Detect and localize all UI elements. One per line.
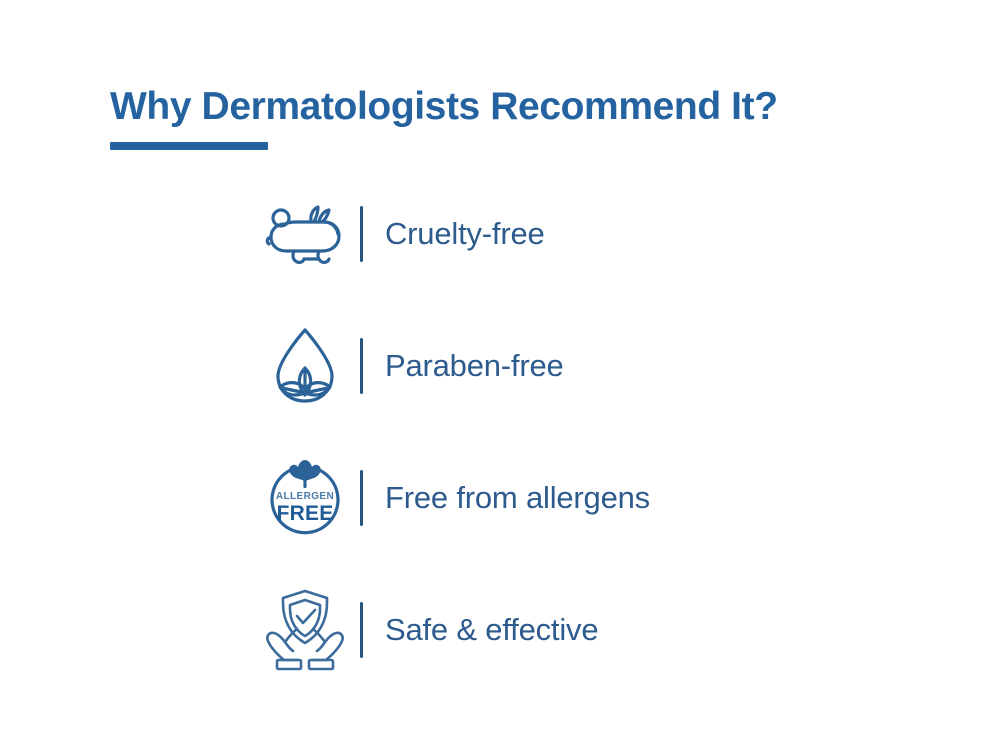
row-divider <box>360 338 363 394</box>
list-item: Safe & effective <box>250 564 970 696</box>
row-divider <box>360 470 363 526</box>
heading-block: Why Dermatologists Recommend It? <box>110 84 910 150</box>
badge-main-text: FREE <box>277 502 334 525</box>
page-title: Why Dermatologists Recommend It? <box>110 84 910 130</box>
row-divider <box>360 602 363 658</box>
list-item: ALLERGEN FREE Free from allergens <box>250 432 970 564</box>
list-item: Cruelty-free <box>250 168 970 300</box>
feature-label: Paraben-free <box>385 348 564 384</box>
feature-list: Cruelty-free <box>250 168 970 696</box>
list-item: Paraben-free <box>250 300 970 432</box>
feature-label: Free from allergens <box>385 480 650 516</box>
row-divider <box>360 206 363 262</box>
slide-canvas: Why Dermatologists Recommend It? <box>0 0 1000 750</box>
droplet-leaf-icon <box>250 320 360 412</box>
feature-label: Safe & effective <box>385 612 598 648</box>
shield-check-hands-icon <box>250 584 360 676</box>
allergen-free-badge-icon: ALLERGEN FREE <box>250 452 360 544</box>
feature-label: Cruelty-free <box>385 216 545 252</box>
rabbit-icon <box>250 188 360 280</box>
badge-top-text: ALLERGEN <box>276 491 334 502</box>
title-accent-rule <box>110 142 268 150</box>
